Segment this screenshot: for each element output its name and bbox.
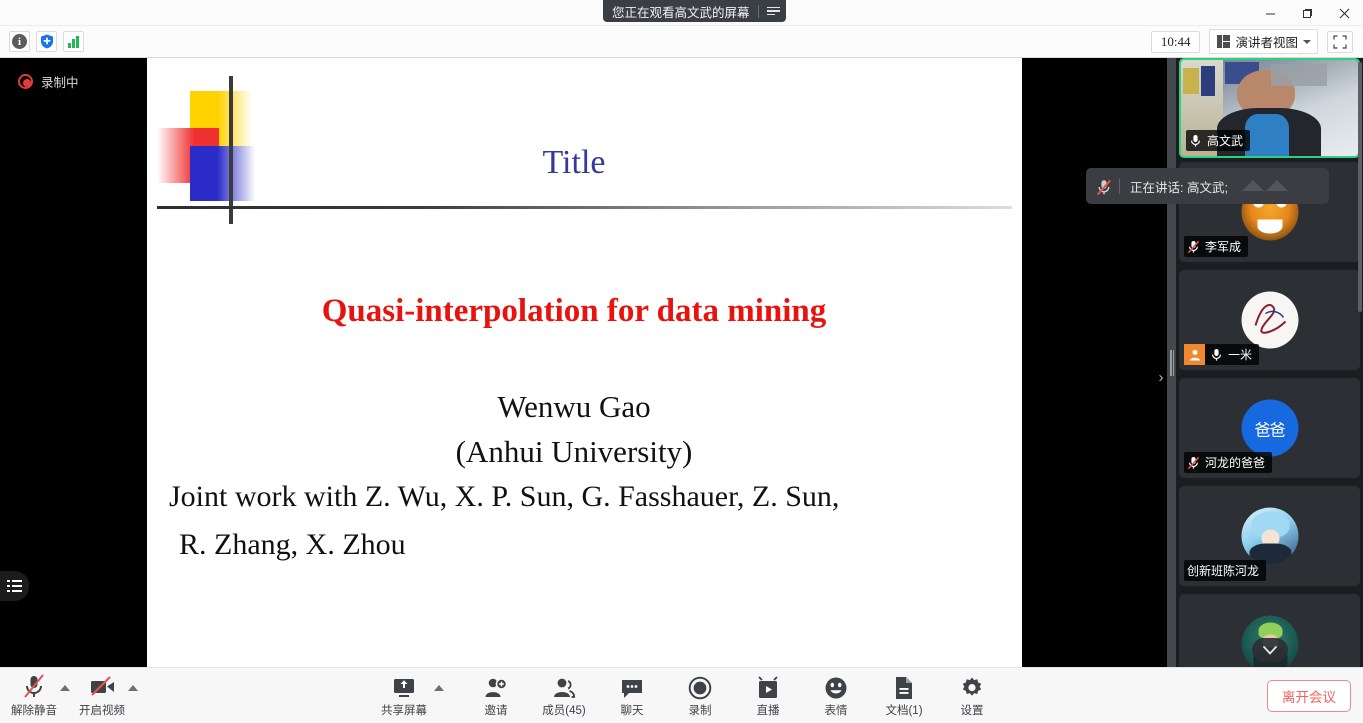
share-screen-icon — [392, 674, 416, 700]
avatar-initials: 爸爸 — [1254, 416, 1284, 440]
participant-tile[interactable]: 创新班陈河龙 — [1179, 486, 1360, 586]
participant-nametag: 李军成 — [1184, 236, 1248, 257]
mic-muted-icon — [22, 674, 46, 700]
window-controls — [1252, 0, 1363, 26]
camera-off-icon — [89, 674, 116, 700]
mic-muted-icon — [1096, 179, 1109, 193]
participant-tile[interactable]: 爸爸 河龙的爸爸 — [1179, 378, 1360, 478]
participant-nametag: 一米 — [1184, 344, 1259, 365]
slide-title: Title — [147, 144, 1001, 182]
recording-indicator: 录制中 — [18, 72, 79, 91]
list-panel-icon[interactable] — [0, 571, 29, 601]
shared-screen-slide: Title Quasi-interpolation for data minin… — [147, 58, 1022, 671]
mic-on-icon — [1210, 348, 1223, 362]
viewing-screen-banner-label: 您正在观看高文武的屏幕 — [612, 2, 750, 21]
chevron-right-icon[interactable]: › — [1154, 367, 1168, 387]
minimize-button[interactable] — [1252, 0, 1289, 26]
info-icon: i — [12, 34, 27, 49]
drag-handle-icon[interactable] — [1167, 58, 1176, 667]
participant-tile[interactable]: 高文武 — [1179, 58, 1360, 158]
chat-button[interactable]: 聊天 — [608, 670, 656, 722]
close-button[interactable] — [1326, 0, 1363, 26]
meeting-info-button[interactable]: i — [9, 31, 30, 52]
record-circle-icon — [688, 674, 712, 700]
maximize-button[interactable] — [1289, 0, 1326, 26]
avatar — [1241, 292, 1298, 349]
network-quality-button[interactable] — [63, 31, 84, 52]
audio-options-caret[interactable] — [60, 685, 70, 691]
secondary-toolbar: i 10:44 演讲者视图 — [0, 26, 1363, 58]
zoom-meeting-window: 您正在观看高文武的屏幕 — [0, 0, 1363, 723]
title-bar: 您正在观看高文武的屏幕 — [0, 0, 1363, 26]
record-label: 录制 — [689, 702, 712, 718]
slide-joint-line-1: Joint work with Z. Wu, X. P. Sun, G. Fas… — [169, 480, 839, 513]
settings-button[interactable]: 设置 — [948, 670, 996, 722]
start-video-label: 开启视频 — [79, 702, 125, 718]
participant-name: 高文武 — [1207, 132, 1243, 149]
leave-meeting-button[interactable]: 离开会议 — [1267, 680, 1351, 712]
slide-joint-work: Joint work with Z. Wu, X. P. Sun, G. Fas… — [169, 473, 1009, 569]
share-options-caret[interactable] — [434, 685, 444, 691]
live-label: 直播 — [757, 702, 780, 718]
fullscreen-button[interactable] — [1327, 31, 1353, 53]
leave-meeting-label: 离开会议 — [1282, 686, 1336, 706]
documents-button[interactable]: 文档(1) — [880, 670, 928, 722]
mic-muted-icon — [1187, 240, 1200, 254]
status-icons: i — [0, 31, 84, 52]
meeting-clock: 10:44 — [1151, 31, 1201, 53]
hamburger-icon[interactable] — [767, 7, 780, 16]
slide-author-block: Wenwu Gao (Anhui University) — [147, 384, 1001, 474]
unmute-button[interactable]: 解除静音 — [10, 670, 58, 722]
av-controls: 解除静音 开启视频 — [10, 668, 146, 723]
recording-label: 录制中 — [41, 72, 79, 91]
speaking-toast: 正在讲话: 高文武; — [1086, 168, 1329, 204]
shield-plus-icon — [40, 34, 54, 49]
participant-tile[interactable]: 一米 — [1179, 270, 1360, 370]
security-button[interactable] — [36, 31, 57, 52]
participant-name: 一米 — [1228, 346, 1252, 363]
share-screen-label: 共享屏幕 — [381, 702, 427, 718]
slide-heading: Quasi-interpolation for data mining — [147, 293, 1001, 330]
share-screen-button[interactable]: 共享屏幕 — [380, 670, 428, 722]
live-stream-icon — [757, 674, 779, 700]
view-mode-selector[interactable]: 演讲者视图 — [1209, 29, 1318, 54]
stage-left-filler: 录制中 — [0, 58, 147, 667]
participant-nametag: 创新班陈河龙 — [1184, 560, 1266, 581]
avatar — [1241, 508, 1298, 565]
toolbar-right-group: 10:44 演讲者视图 — [1151, 29, 1363, 54]
slide-author-name: Wenwu Gao — [147, 384, 1001, 429]
participant-nametag: 河龙的爸爸 — [1184, 452, 1272, 473]
speaking-toast-label: 正在讲话: 高文武; — [1130, 177, 1228, 196]
viewing-screen-banner: 您正在观看高文武的屏幕 — [603, 0, 786, 22]
documents-label: 文档(1) — [885, 702, 922, 718]
settings-label: 设置 — [961, 702, 984, 718]
audio-wave-icon — [1242, 175, 1288, 197]
emoji-label: 表情 — [825, 702, 848, 718]
participant-name: 河龙的爸爸 — [1205, 454, 1265, 471]
slide-affiliation: (Anhui University) — [147, 429, 1001, 474]
participant-rail[interactable]: 高文武 李军成 — [1176, 58, 1363, 667]
invite-person-icon — [484, 674, 508, 700]
invite-button[interactable]: 邀请 — [472, 670, 520, 722]
live-button[interactable]: 直播 — [744, 670, 792, 722]
unmute-label: 解除静音 — [11, 702, 57, 718]
participants-label: 成员(45) — [542, 702, 585, 718]
fullscreen-icon — [1333, 35, 1347, 49]
signal-bars-icon — [68, 36, 79, 48]
stage-right-filler — [1022, 58, 1169, 667]
gear-icon — [960, 674, 984, 700]
participants-icon — [552, 674, 576, 700]
slide-joint-line-2: R. Zhang, X. Zhou — [169, 521, 1009, 569]
avatar: 爸爸 — [1241, 400, 1298, 457]
chevron-down-icon[interactable] — [1252, 638, 1288, 662]
layout-icon — [1217, 35, 1230, 48]
participant-nametag: 高文武 — [1186, 130, 1250, 151]
chevron-down-icon[interactable] — [1303, 40, 1311, 44]
chat-bubble-icon — [620, 674, 644, 700]
view-mode-label: 演讲者视图 — [1235, 32, 1298, 51]
start-video-button[interactable]: 开启视频 — [78, 670, 126, 722]
rail-scrollbar[interactable] — [1358, 62, 1362, 312]
toast-divider — [1119, 179, 1120, 194]
chat-label: 聊天 — [621, 702, 644, 718]
mic-muted-icon — [1187, 456, 1200, 470]
record-button[interactable]: 录制 — [676, 670, 724, 722]
host-person-icon — [1184, 344, 1205, 365]
video-options-caret[interactable] — [128, 685, 138, 691]
banner-divider — [758, 5, 759, 18]
meeting-controls-bar: 解除静音 开启视频 — [0, 667, 1363, 723]
main-controls: 共享屏幕 邀请 — [380, 668, 996, 723]
emoji-smile-icon — [824, 674, 848, 700]
record-dot-icon — [18, 74, 33, 89]
decoration-horizontal-rule — [157, 206, 1012, 209]
participants-button[interactable]: 成员(45) — [540, 670, 588, 722]
invite-label: 邀请 — [485, 702, 508, 718]
participant-name: 李军成 — [1205, 238, 1241, 255]
participant-name: 创新班陈河龙 — [1187, 562, 1259, 579]
emoji-button[interactable]: 表情 — [812, 670, 860, 722]
document-icon — [894, 674, 914, 700]
mic-on-icon — [1189, 134, 1202, 148]
